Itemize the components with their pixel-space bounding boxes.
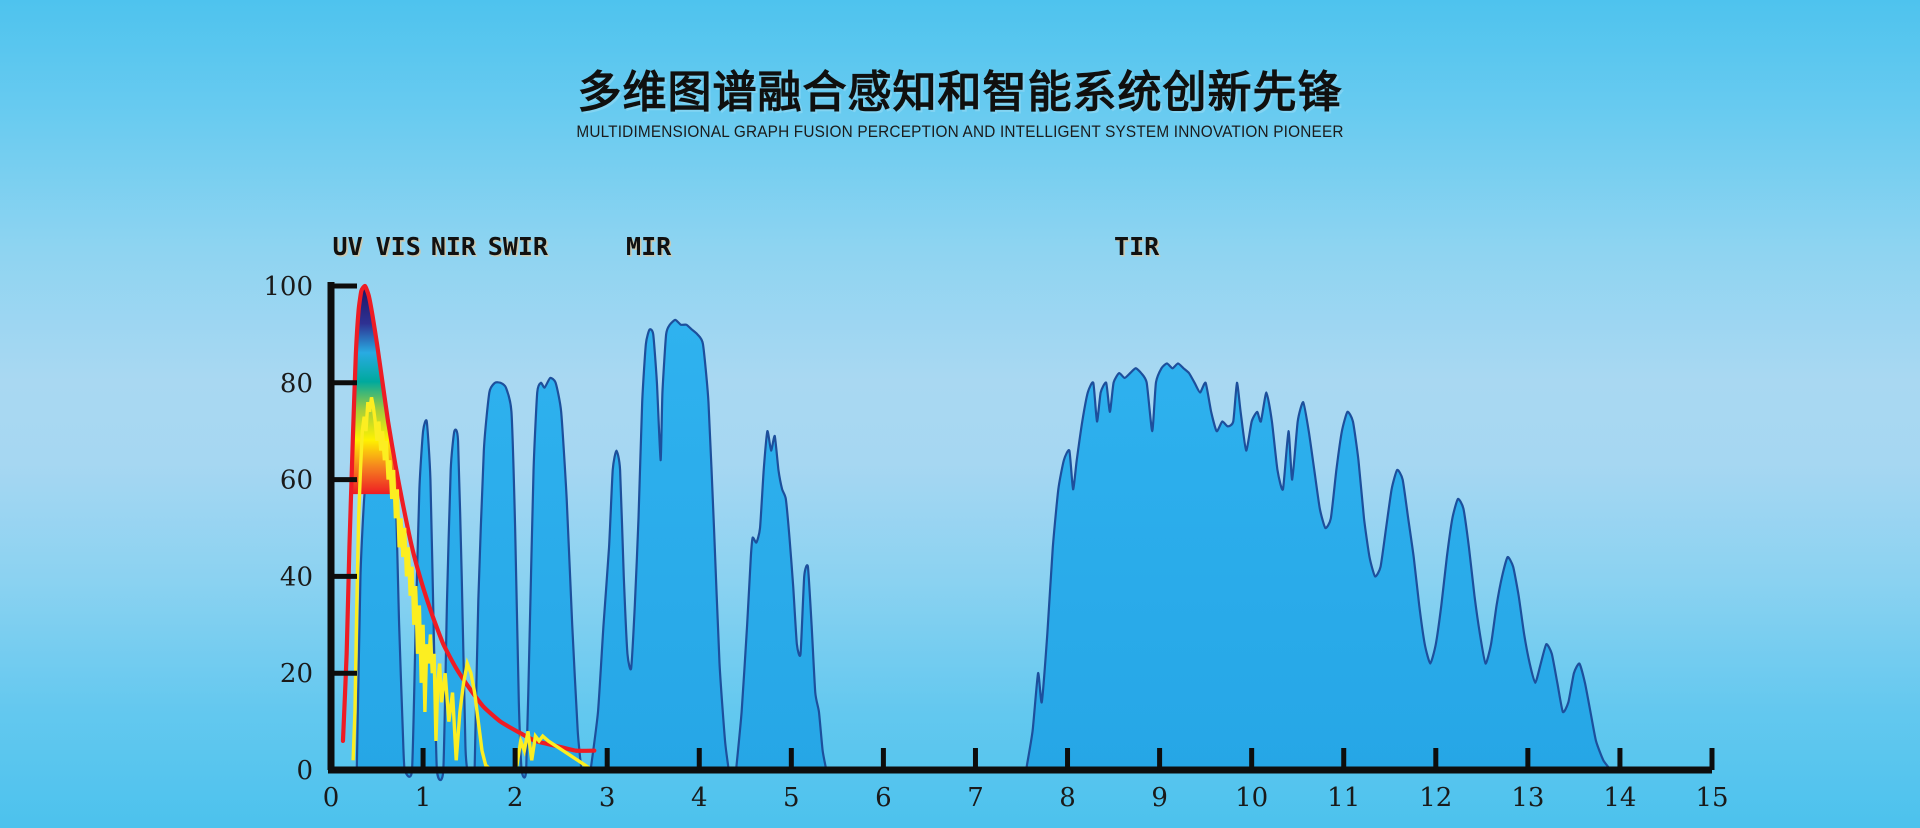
svg-text:0: 0 <box>296 756 313 786</box>
svg-text:1: 1 <box>415 783 432 813</box>
transmission-band-area <box>357 320 1611 780</box>
svg-text:100: 100 <box>263 272 313 302</box>
svg-text:7: 7 <box>967 783 984 813</box>
svg-text:3: 3 <box>599 783 616 813</box>
poster-canvas: 多维图谱融合感知和智能系统创新先锋 MULTIDIMENSIONAL GRAPH… <box>0 0 1920 828</box>
svg-text:14: 14 <box>1603 783 1636 813</box>
svg-text:15: 15 <box>1695 783 1728 813</box>
svg-text:11: 11 <box>1327 783 1360 813</box>
svg-text:13: 13 <box>1511 783 1544 813</box>
svg-text:12: 12 <box>1419 783 1452 813</box>
spectral-chart: 020406080100 0123456789101112131415 <box>0 0 1920 828</box>
svg-text:10: 10 <box>1235 783 1268 813</box>
y-axis-tick-labels: 020406080100 <box>263 272 313 786</box>
svg-text:80: 80 <box>280 369 313 399</box>
svg-text:0: 0 <box>323 783 340 813</box>
svg-text:20: 20 <box>280 659 313 689</box>
svg-text:60: 60 <box>280 466 313 496</box>
svg-text:6: 6 <box>875 783 892 813</box>
x-axis-tick-labels: 0123456789101112131415 <box>323 783 1729 813</box>
svg-text:8: 8 <box>1059 783 1076 813</box>
svg-text:4: 4 <box>691 783 708 813</box>
svg-text:40: 40 <box>280 562 313 592</box>
svg-text:9: 9 <box>1151 783 1168 813</box>
svg-text:5: 5 <box>783 783 800 813</box>
svg-text:2: 2 <box>507 783 524 813</box>
